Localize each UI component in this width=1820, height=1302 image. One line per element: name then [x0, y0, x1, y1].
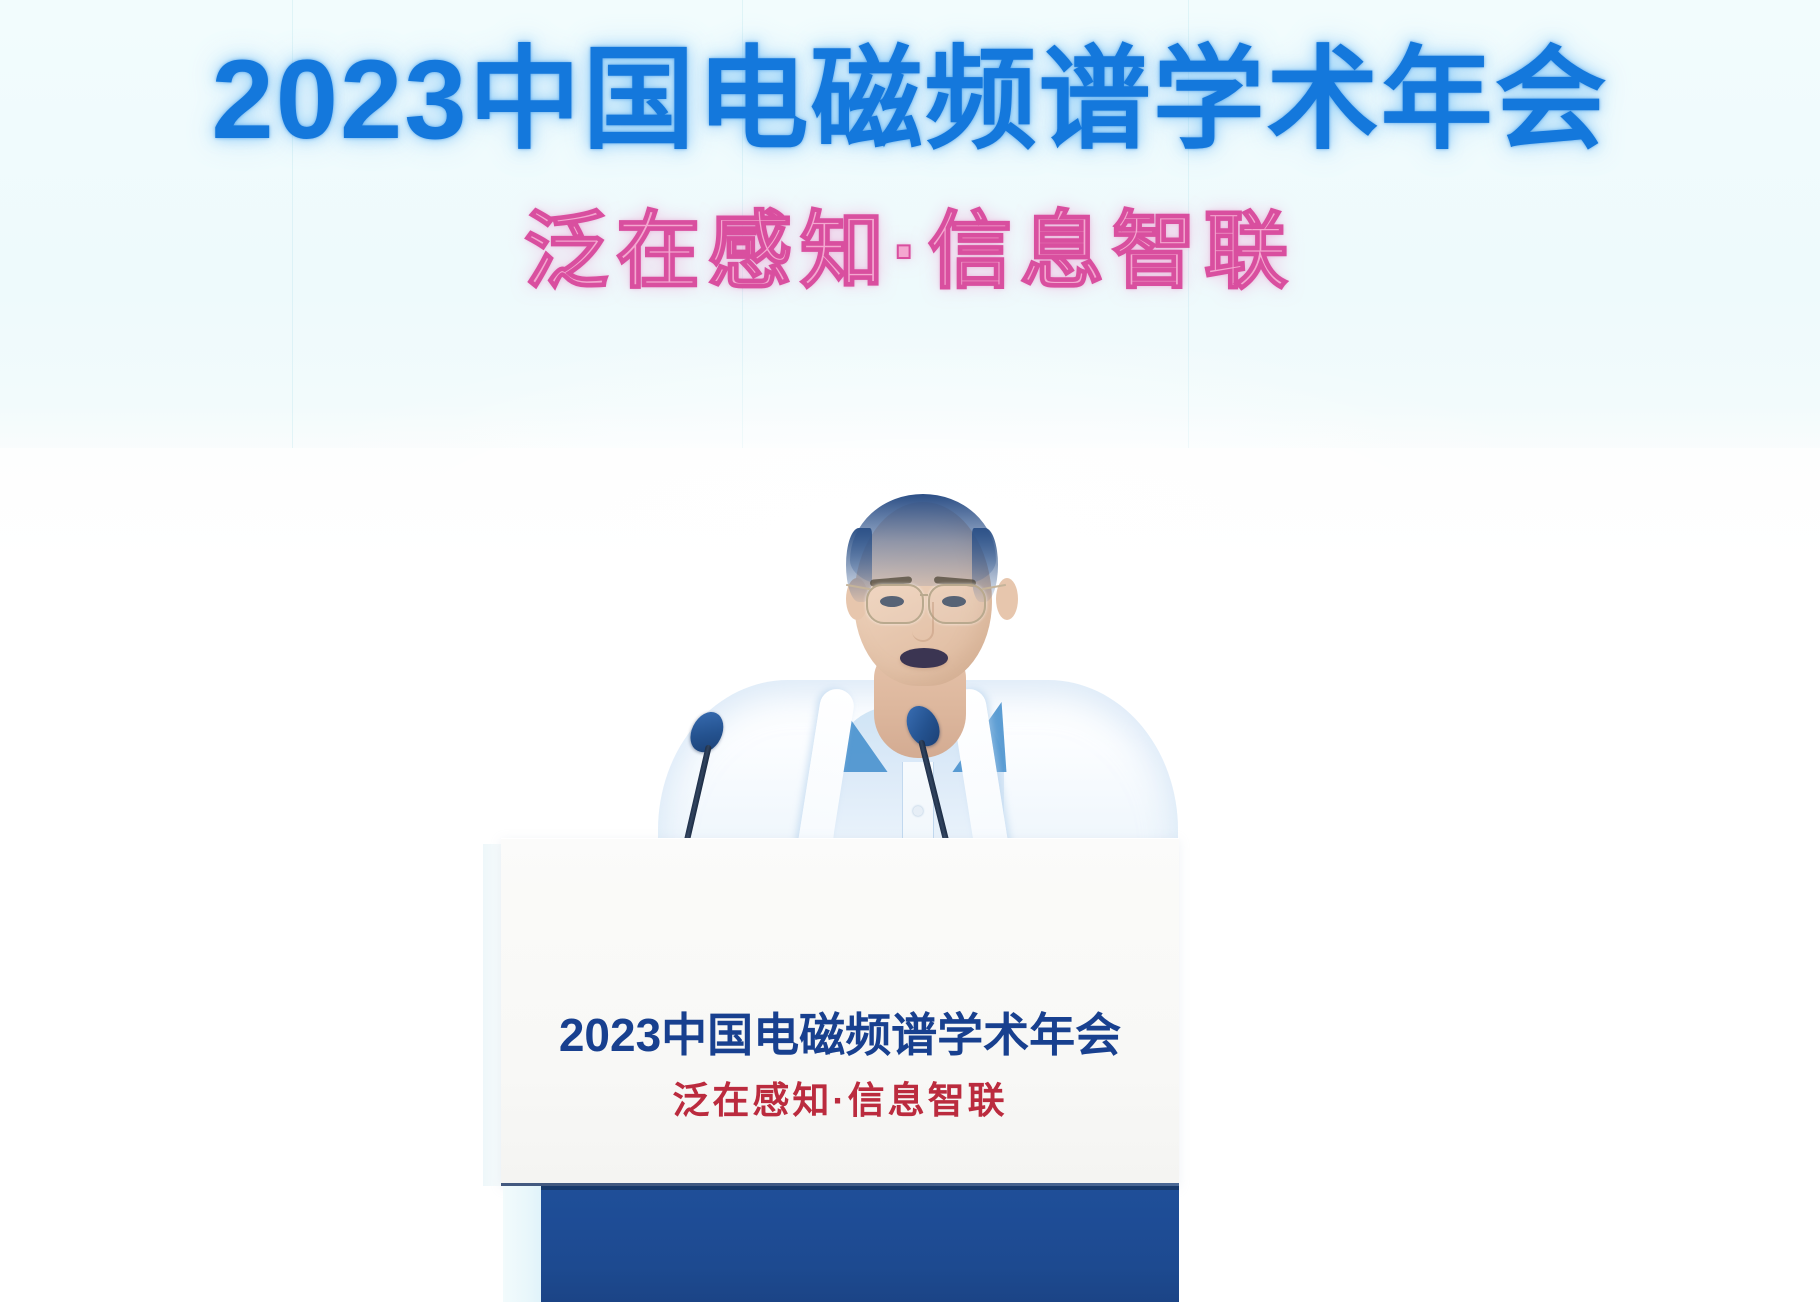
podium: 2023中国电磁频谱学术年会 泛在感知·信息智联 — [501, 838, 1179, 1186]
podium-main-title: 2023中国电磁频谱学术年会 — [501, 1010, 1179, 1061]
speaker-figure — [628, 470, 1208, 890]
screen-subtitle: 泛在感知·信息智联 — [0, 184, 1820, 305]
podium-subtitle: 泛在感知·信息智联 — [501, 1081, 1179, 1122]
conference-photo-scene: 2023中国电磁频谱学术年会 泛在感知·信息智联 — [0, 0, 1820, 1302]
podium-base-left-gap — [503, 1186, 543, 1302]
screen-main-title: 2023中国电磁频谱学术年会 — [0, 34, 1820, 166]
podium-base — [541, 1186, 1179, 1302]
glasses-lens-right — [928, 584, 986, 624]
shirt-button — [913, 806, 923, 816]
mouth — [900, 648, 948, 668]
podium-sign: 2023中国电磁频谱学术年会 泛在感知·信息智联 — [501, 1010, 1179, 1121]
glasses-bridge — [920, 594, 928, 596]
podium-base-top-edge — [541, 1186, 1179, 1190]
nose — [912, 602, 934, 642]
podium-left-edge — [483, 844, 501, 1186]
screen-title-block: 2023中国电磁频谱学术年会 泛在感知·信息智联 — [0, 34, 1820, 305]
